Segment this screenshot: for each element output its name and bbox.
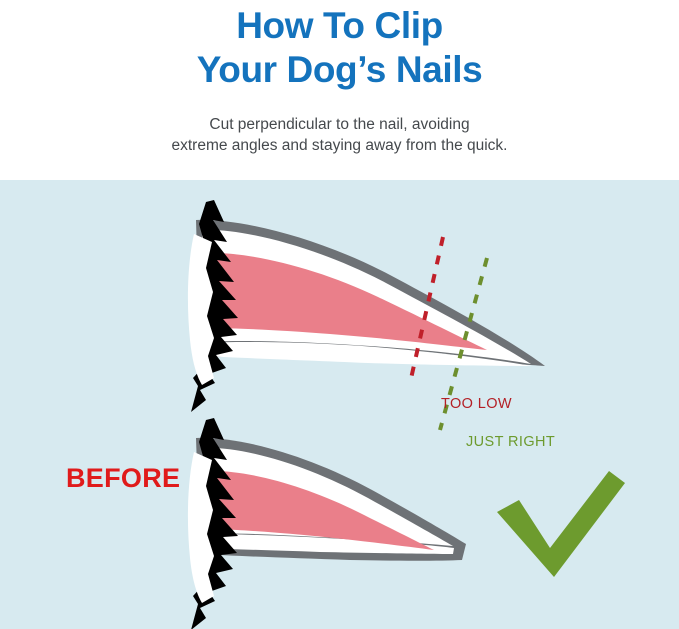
before-label: BEFORE [66,463,180,494]
infographic-page: How To Clip Your Dog’s Nails Cut perpend… [0,0,679,629]
illustration-panel: BEFORE AFTER TOO LOW JUST RIGHT [0,180,679,629]
green-checkmark-icon [497,471,625,577]
after-nail-illustration [188,418,466,629]
subtitle-line-2: extreme angles and staying away from the… [0,135,679,156]
too-low-label: TOO LOW [441,396,512,412]
title-line-1: How To Clip [0,4,679,48]
before-nail-illustration [188,200,545,412]
header-section: How To Clip Your Dog’s Nails Cut perpend… [0,0,679,180]
title-line-2: Your Dog’s Nails [0,48,679,92]
subtitle-line-1: Cut perpendicular to the nail, avoiding [0,114,679,135]
just-right-label: JUST RIGHT [466,434,555,450]
page-subtitle: Cut perpendicular to the nail, avoiding … [0,114,679,156]
nail-diagram-svg [0,180,679,629]
page-title: How To Clip Your Dog’s Nails [0,4,679,92]
